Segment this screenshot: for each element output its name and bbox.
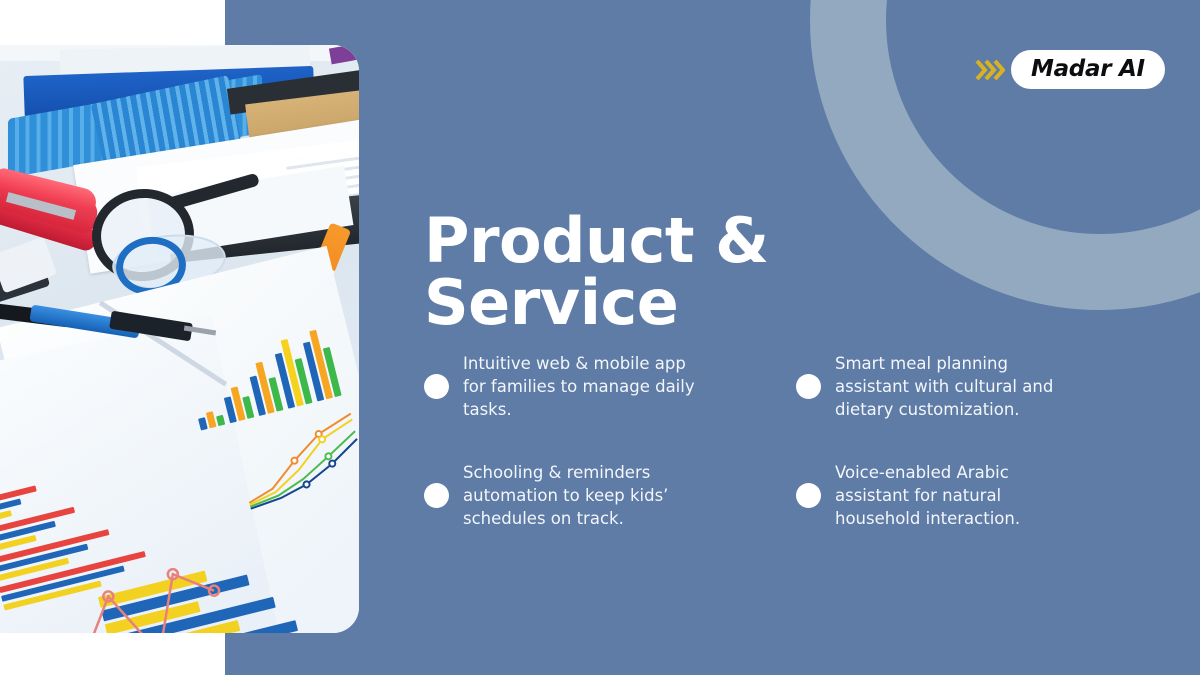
slide-root: Product & Service Intuitive web & mobile… xyxy=(0,0,1200,675)
list-item[interactable]: Schooling & reminders automation to keep… xyxy=(424,461,796,530)
page-title-line-2: Service xyxy=(424,272,904,334)
bullet-circle-icon xyxy=(796,374,821,399)
list-item[interactable]: Voice-enabled Arabic assistant for natur… xyxy=(796,461,1114,530)
list-item[interactable]: Intuitive web & mobile app for families … xyxy=(424,352,796,421)
list-item-label: Intuitive web & mobile app for families … xyxy=(463,352,713,421)
bullet-circle-icon xyxy=(424,374,449,399)
white-notch-bottom xyxy=(0,633,225,675)
photo-purple-object xyxy=(329,45,359,64)
bullet-circle-icon xyxy=(796,483,821,508)
background-panel xyxy=(225,0,1200,675)
double-chevron-right-icon xyxy=(975,57,1005,83)
list-item-label: Schooling & reminders automation to keep… xyxy=(463,461,713,530)
white-notch-top xyxy=(0,0,225,45)
hero-photo xyxy=(0,45,359,633)
brand-name: Madar AI xyxy=(1011,50,1165,89)
brand-logo[interactable]: Madar AI xyxy=(975,50,1165,89)
list-item-label: Smart meal planning assistant with cultu… xyxy=(835,352,1085,421)
page-title: Product & Service xyxy=(424,210,904,334)
list-item[interactable]: Smart meal planning assistant with cultu… xyxy=(796,352,1114,421)
bullet-circle-icon xyxy=(424,483,449,508)
feature-list: Intuitive web & mobile app for families … xyxy=(424,352,1114,530)
photo-scene xyxy=(0,45,359,633)
list-item-label: Voice-enabled Arabic assistant for natur… xyxy=(835,461,1085,530)
